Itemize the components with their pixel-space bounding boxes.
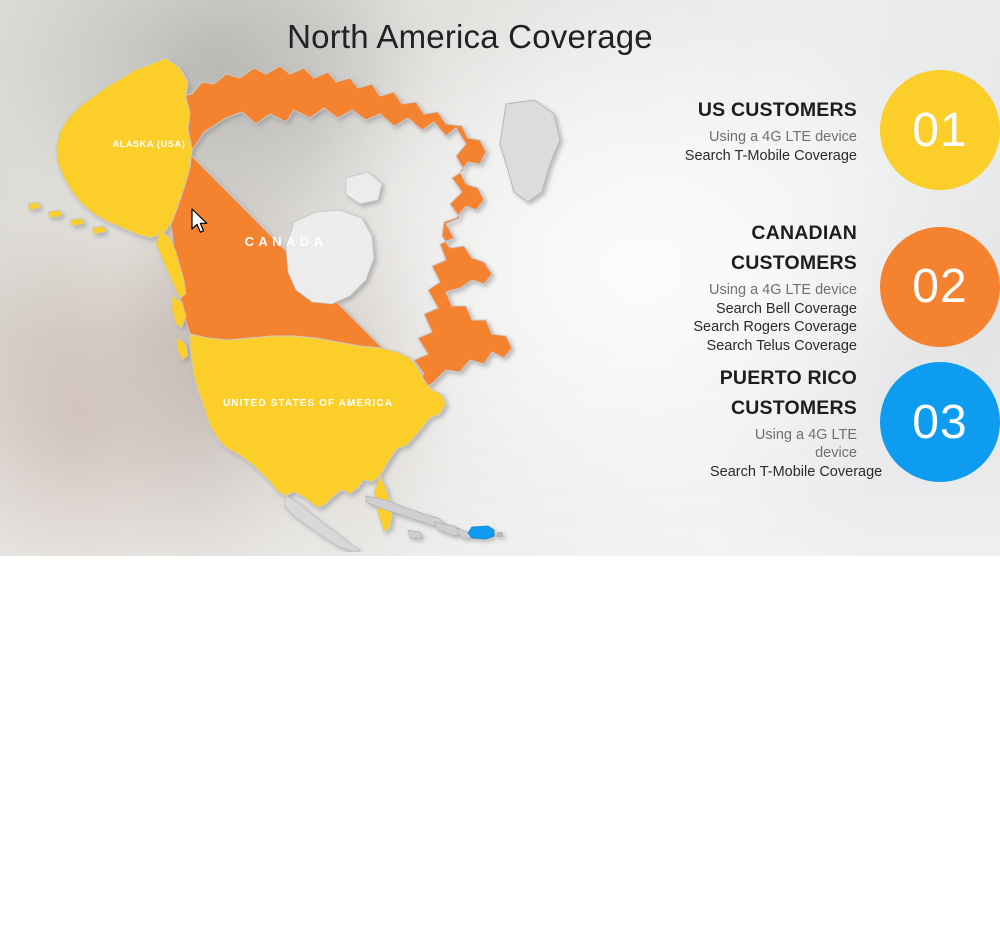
region-greenland <box>500 100 560 202</box>
list-item-title: PUERTO RICO CUSTOMERS <box>710 363 857 423</box>
region-puerto-rico[interactable] <box>468 526 494 539</box>
map-landmasses <box>28 58 560 552</box>
water-hudson-bay <box>286 210 374 304</box>
water-foxe-basin <box>346 172 382 204</box>
list-item-canadian-customers[interactable]: CANADIAN CUSTOMERS Using a 4G LTE device… <box>560 218 1000 355</box>
list-item-text: CANADIAN CUSTOMERS Using a 4G LTE device… <box>620 218 880 355</box>
map-label-canada: CANADA <box>245 234 328 249</box>
list-item-subtitle: Using a 4G LTE device <box>685 128 857 147</box>
coverage-link[interactable]: Search Bell Coverage <box>620 300 857 319</box>
coverage-link[interactable]: Search Telus Coverage <box>620 337 857 356</box>
north-america-map[interactable]: ALASKA (USA) CANADA UNITED STATES OF AME… <box>0 52 574 552</box>
map-svg: ALASKA (USA) CANADA UNITED STATES OF AME… <box>0 52 574 552</box>
coverage-panel: North America Coverage <box>0 0 1000 556</box>
coverage-list: US CUSTOMERS Using a 4G LTE device Searc… <box>560 62 1000 532</box>
region-united-states <box>190 334 446 508</box>
map-label-alaska: ALASKA (USA) <box>112 139 185 149</box>
coverage-link[interactable]: Search T-Mobile Coverage <box>710 463 857 482</box>
map-label-united-states: UNITED STATES OF AMERICA <box>223 398 393 409</box>
list-item-us-customers[interactable]: US CUSTOMERS Using a 4G LTE device Searc… <box>560 70 1000 190</box>
list-item-title: US CUSTOMERS <box>685 95 857 125</box>
list-item-text: PUERTO RICO CUSTOMERS Using a 4G LTE dev… <box>710 363 880 482</box>
list-item-subtitle: Using a 4G LTE device <box>710 426 857 463</box>
list-item-number-badge: 01 <box>880 70 1000 190</box>
page-title: North America Coverage <box>0 18 940 56</box>
coverage-link[interactable]: Search Rogers Coverage <box>620 318 857 337</box>
region-virgin-islands <box>497 532 503 537</box>
list-item-title: CANADIAN CUSTOMERS <box>620 218 857 278</box>
list-item-number-badge: 03 <box>880 362 1000 482</box>
list-item-number-badge: 02 <box>880 227 1000 347</box>
list-item-text: US CUSTOMERS Using a 4G LTE device Searc… <box>685 95 880 165</box>
list-item-puerto-rico-customers[interactable]: PUERTO RICO CUSTOMERS Using a 4G LTE dev… <box>560 362 1000 482</box>
coverage-link[interactable]: Search T-Mobile Coverage <box>685 147 857 166</box>
list-item-subtitle: Using a 4G LTE device <box>620 281 857 300</box>
